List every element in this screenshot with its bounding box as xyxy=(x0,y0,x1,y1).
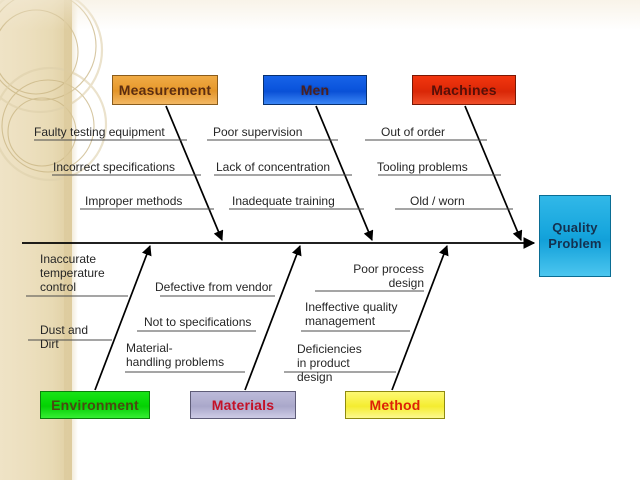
category-label-materials: Materials xyxy=(212,397,275,413)
category-label-machines: Machines xyxy=(431,82,496,98)
fishbone-diagram-canvas: Measurement Men Machines Environment Mat… xyxy=(0,0,640,480)
cause-environment-1: Inaccurate temperature control xyxy=(40,252,105,294)
cause-materials-2: Not to specifications xyxy=(144,315,251,329)
category-box-machines[interactable]: Machines xyxy=(412,75,516,105)
effect-box-quality-problem[interactable]: Quality Problem xyxy=(539,195,611,277)
cause-method-1-line1: Poor process xyxy=(324,262,424,276)
cause-materials-1: Defective from vendor xyxy=(155,280,272,294)
cause-method-2: Ineffective quality management xyxy=(305,300,398,328)
category-box-measurement[interactable]: Measurement xyxy=(112,75,218,105)
cause-method-3: Deficiencies in product design xyxy=(297,342,362,384)
cause-materials-3-line2: handling problems xyxy=(126,355,224,369)
cause-measurement-1: Faulty testing equipment xyxy=(34,125,165,139)
rib-materials xyxy=(245,246,300,390)
cause-method-2-line2: management xyxy=(305,314,398,328)
cause-method-3-line2: in product xyxy=(297,356,362,370)
cause-method-3-line1: Deficiencies xyxy=(297,342,362,356)
rib-machines xyxy=(465,106,521,240)
category-box-method[interactable]: Method xyxy=(345,391,445,419)
cause-materials-3: Material- handling problems xyxy=(126,341,224,369)
category-label-environment: Environment xyxy=(51,397,139,413)
cause-environment-1-line3: control xyxy=(40,280,105,294)
cause-machines-3: Old / worn xyxy=(410,194,465,208)
category-box-environment[interactable]: Environment xyxy=(40,391,150,419)
cause-environment-2-line2: Dirt xyxy=(40,337,88,351)
cause-method-2-line1: Ineffective quality xyxy=(305,300,398,314)
cause-measurement-2: Incorrect specifications xyxy=(53,160,175,174)
cause-machines-2: Tooling problems xyxy=(377,160,468,174)
cause-method-3-line3: design xyxy=(297,370,362,384)
cause-men-1: Poor supervision xyxy=(213,125,302,139)
cause-machines-1: Out of order xyxy=(381,125,445,139)
category-box-men[interactable]: Men xyxy=(263,75,367,105)
category-label-men: Men xyxy=(301,82,330,98)
cause-environment-2: Dust and Dirt xyxy=(40,323,88,351)
cause-measurement-3: Improper methods xyxy=(85,194,182,208)
effect-label-line1: Quality xyxy=(552,220,597,236)
cause-environment-1-line1: Inaccurate xyxy=(40,252,105,266)
category-label-measurement: Measurement xyxy=(119,82,211,98)
category-box-materials[interactable]: Materials xyxy=(190,391,296,419)
cause-method-1: Poor process design xyxy=(324,262,424,290)
cause-men-2: Lack of concentration xyxy=(216,160,330,174)
category-label-method: Method xyxy=(370,397,421,413)
cause-method-1-line2: design xyxy=(324,276,424,290)
cause-environment-1-line2: temperature xyxy=(40,266,105,280)
cause-environment-2-line1: Dust and xyxy=(40,323,88,337)
cause-men-3: Inadequate training xyxy=(232,194,335,208)
effect-label-line2: Problem xyxy=(548,236,601,252)
cause-materials-3-line1: Material- xyxy=(126,341,224,355)
